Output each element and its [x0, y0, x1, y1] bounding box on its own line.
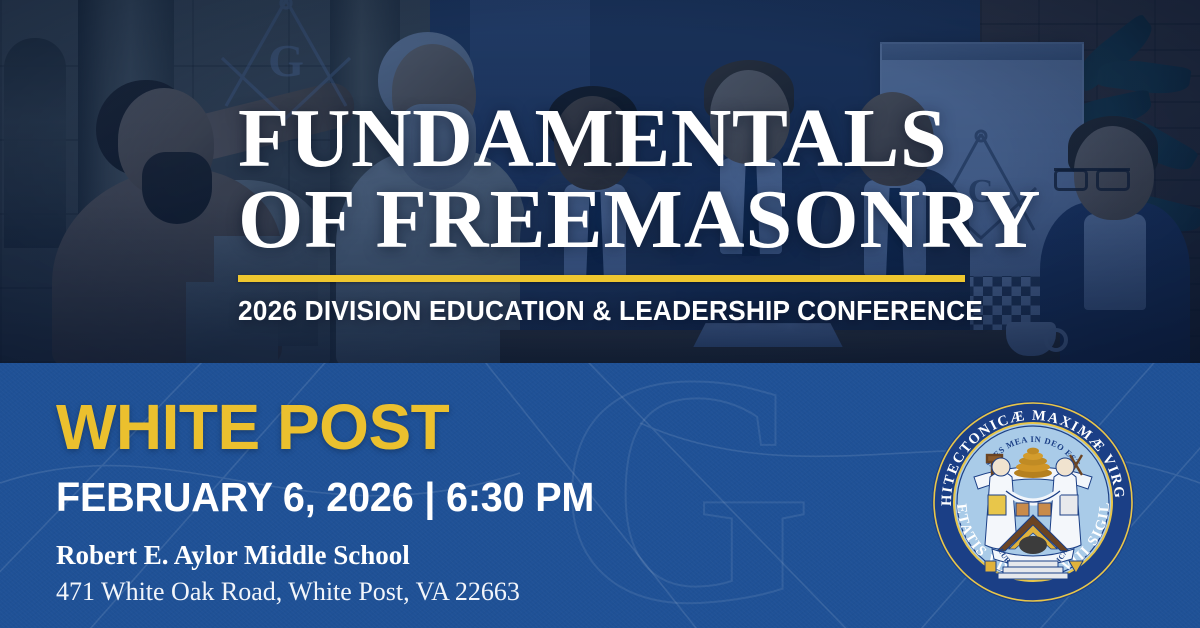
page-title-line-1: FUNDAMENTALS: [238, 98, 968, 179]
page-title-line-2: OF FREEMASONRY: [238, 179, 968, 260]
event-venue-name: Robert E. Aylor Middle School: [56, 540, 614, 570]
event-subtitle: 2026 DIVISION EDUCATION & LEADERSHIP CON…: [238, 295, 935, 327]
grand-lodge-seal: ARCHITECTONICÆ MAXIMÆ VIRGINIÆ SOCIETATI…: [930, 399, 1136, 605]
seal-cube-icon: [985, 561, 996, 572]
gold-divider-rule: [238, 275, 965, 282]
event-city: WHITE POST: [56, 395, 614, 459]
event-address: 471 White Oak Road, White Post, VA 22663: [56, 577, 614, 606]
event-datetime: FEBRUARY 6, 2026 | 6:30 PM: [56, 477, 594, 518]
event-details: WHITE POST FEBRUARY 6, 2026 | 6:30 PM Ro…: [56, 395, 614, 606]
hero-image: G: [0, 0, 1200, 363]
hero-text-block: FUNDAMENTALS OF FREEMASONRY 2026 DIVISIO…: [238, 98, 968, 327]
elephant-icon: [1019, 536, 1047, 554]
seal-steps: [998, 561, 1068, 579]
event-poster: G: [0, 0, 1200, 628]
